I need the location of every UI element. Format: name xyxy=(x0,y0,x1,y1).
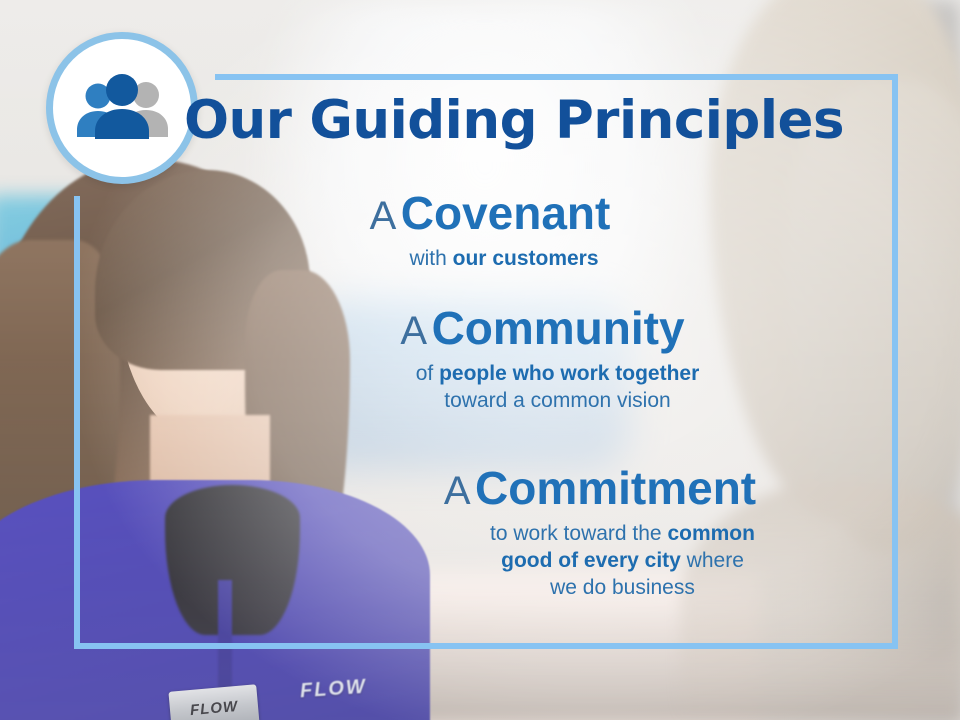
principle-article: A xyxy=(370,194,397,238)
subtext-line: we do business xyxy=(285,574,960,601)
subtext-plain: to work toward the xyxy=(490,522,667,545)
principle-article: A xyxy=(444,469,471,513)
principle-word: Covenant xyxy=(401,187,611,239)
subtext-emphasis: good of every city xyxy=(501,549,681,572)
text-content: Our Guiding Principles A Covenant with o… xyxy=(0,0,960,720)
principle-heading-covenant: A Covenant xyxy=(0,190,960,238)
subtext-emphasis: our customers xyxy=(453,247,599,270)
subtext-line: with our customers xyxy=(48,245,960,272)
subtext-plain: with xyxy=(409,247,452,270)
subtext-emphasis: people who work together xyxy=(439,362,699,385)
subtext-line: good of every city where xyxy=(285,547,960,574)
principle-word: Community xyxy=(432,302,685,354)
principle-word: Commitment xyxy=(475,462,756,514)
principle-article: A xyxy=(400,309,427,353)
subtext-line: to work toward the common xyxy=(285,520,960,547)
subtext-plain: toward a common vision xyxy=(444,389,670,412)
principle-block-community: A Community of people who work togethert… xyxy=(0,305,960,414)
principle-heading-community: A Community xyxy=(0,305,960,353)
subtext-line: of people who work together xyxy=(155,360,960,387)
subtext-emphasis: common xyxy=(667,522,755,545)
principle-subtext-covenant: with our customers xyxy=(0,245,960,272)
principle-subtext-commitment: to work toward the commongood of every c… xyxy=(0,520,960,602)
principle-block-commitment: A Commitment to work toward the commongo… xyxy=(0,465,960,602)
principle-subtext-community: of people who work togethertoward a comm… xyxy=(0,360,960,415)
subtext-line: toward a common vision xyxy=(155,387,960,414)
principle-block-covenant: A Covenant with our customers xyxy=(0,190,960,272)
page-title: Our Guiding Principles xyxy=(0,94,898,147)
guiding-principles-graphic: FLOW FLOW xyxy=(0,0,960,720)
principle-heading-commitment: A Commitment xyxy=(0,465,960,513)
subtext-plain: where xyxy=(681,549,744,572)
subtext-plain: of xyxy=(416,362,439,385)
subtext-plain: we do business xyxy=(550,576,695,599)
